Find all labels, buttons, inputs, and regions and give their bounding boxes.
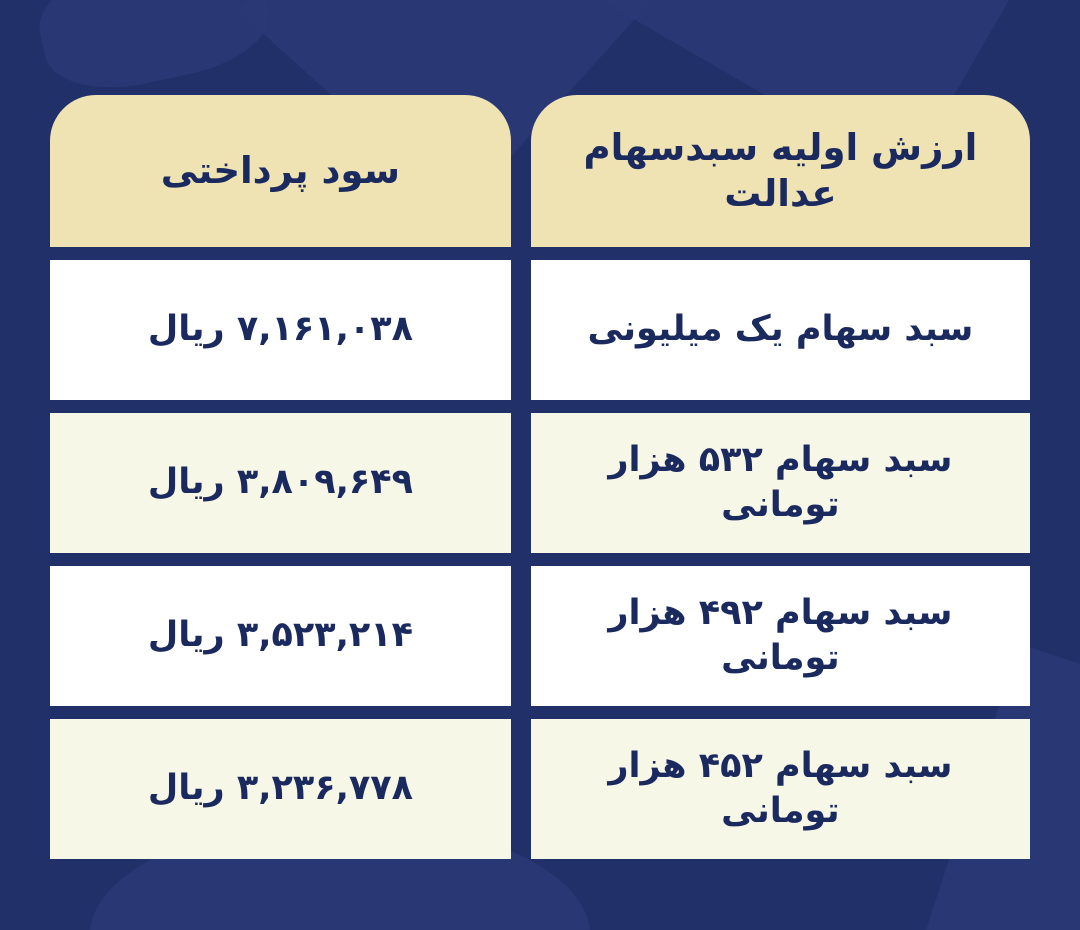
column-header-basket-value: ارزش اولیه سبدسهام عدالت: [531, 95, 1030, 247]
table-row: سبد سهام یک میلیونی ۷,۱۶۱,۰۳۸ ریال: [50, 260, 1030, 400]
cell-paid-profit: ۳,۵۲۳,۲۱۴ ریال: [50, 566, 511, 706]
column-header-paid-profit: سود پرداختی: [50, 95, 511, 247]
sahamedalat-table: ارزش اولیه سبدسهام عدالت سود پرداختی سبد…: [30, 82, 1050, 872]
cell-paid-profit: ۷,۱۶۱,۰۳۸ ریال: [50, 260, 511, 400]
cell-paid-profit: ۳,۲۳۶,۷۷۸ ریال: [50, 719, 511, 859]
table-row: سبد سهام ۵۳۲ هزار تومانی ۳,۸۰۹,۶۴۹ ریال: [50, 413, 1030, 553]
cell-basket-name: سبد سهام ۵۳۲ هزار تومانی: [531, 413, 1030, 553]
table-header: ارزش اولیه سبدسهام عدالت سود پرداختی: [50, 95, 1030, 247]
cell-basket-name: سبد سهام ۴۵۲ هزار تومانی: [531, 719, 1030, 859]
cell-basket-name: سبد سهام ۴۹۲ هزار تومانی: [531, 566, 1030, 706]
cell-paid-profit: ۳,۸۰۹,۶۴۹ ریال: [50, 413, 511, 553]
table-body: سبد سهام یک میلیونی ۷,۱۶۱,۰۳۸ ریال سبد س…: [50, 260, 1030, 859]
cell-basket-name: سبد سهام یک میلیونی: [531, 260, 1030, 400]
table-container: ارزش اولیه سبدسهام عدالت سود پرداختی سبد…: [0, 0, 1080, 930]
table-row: سبد سهام ۴۵۲ هزار تومانی ۳,۲۳۶,۷۷۸ ریال: [50, 719, 1030, 859]
table-row: سبد سهام ۴۹۲ هزار تومانی ۳,۵۲۳,۲۱۴ ریال: [50, 566, 1030, 706]
table-header-row: ارزش اولیه سبدسهام عدالت سود پرداختی: [50, 95, 1030, 247]
